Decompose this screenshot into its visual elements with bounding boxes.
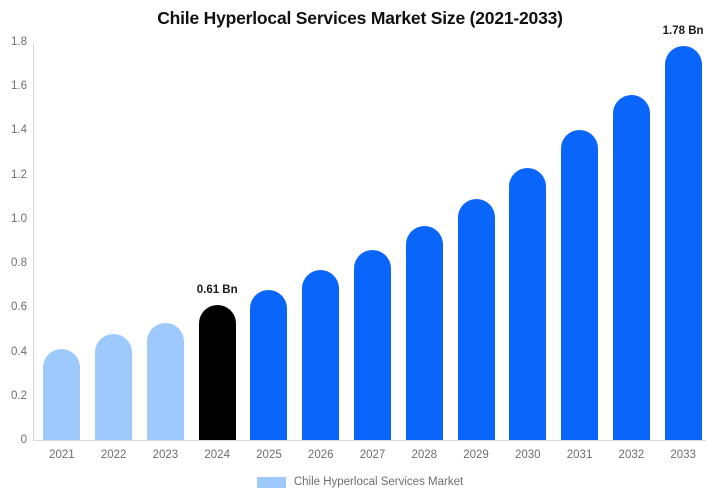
y-axis-tick-1.2: 1.2	[0, 169, 27, 181]
x-axis-tick-2026: 2026	[308, 449, 334, 461]
x-axis-line	[33, 440, 706, 441]
bar-2027[interactable]	[354, 250, 391, 440]
x-axis-tick-2022: 2022	[101, 449, 127, 461]
bar-2031[interactable]	[561, 130, 598, 440]
x-axis-tick-2033: 2033	[670, 449, 696, 461]
plot-area	[33, 42, 706, 440]
chart-container: Chile Hyperlocal Services Market Size (2…	[0, 0, 720, 500]
bar-2025[interactable]	[250, 290, 287, 440]
y-axis-tick-0.2: 0.2	[0, 390, 27, 402]
y-axis-tick-1.8: 1.8	[0, 36, 27, 48]
x-axis-tick-2021: 2021	[49, 449, 75, 461]
x-axis-tick-2027: 2027	[360, 449, 386, 461]
x-axis-tick-2023: 2023	[153, 449, 179, 461]
y-axis-tick-0.6: 0.6	[0, 301, 27, 313]
x-axis-tick-2031: 2031	[567, 449, 593, 461]
y-axis-tick-1.4: 1.4	[0, 124, 27, 136]
legend-label: Chile Hyperlocal Services Market	[294, 476, 463, 488]
bar-2024[interactable]	[199, 305, 236, 440]
x-axis-tick-2029: 2029	[463, 449, 489, 461]
y-axis-tick-0: 0	[0, 434, 27, 446]
bar-2021[interactable]	[43, 349, 80, 440]
chart-title: Chile Hyperlocal Services Market Size (2…	[0, 8, 720, 29]
x-axis-tick-2025: 2025	[256, 449, 282, 461]
y-axis-tick-1.6: 1.6	[0, 80, 27, 92]
bar-2033[interactable]	[665, 46, 702, 440]
bar-2030[interactable]	[509, 168, 546, 440]
value-label-2024: 0.61 Bn	[197, 284, 238, 296]
bar-2028[interactable]	[406, 226, 443, 440]
x-axis-tick-2030: 2030	[515, 449, 541, 461]
legend-swatch-icon	[257, 477, 286, 488]
bar-2032[interactable]	[613, 95, 650, 440]
bar-2023[interactable]	[147, 323, 184, 440]
bar-2026[interactable]	[302, 270, 339, 440]
y-axis-tick-1.0: 1.0	[0, 213, 27, 225]
y-axis-tick-0.4: 0.4	[0, 346, 27, 358]
bar-2029[interactable]	[458, 199, 495, 440]
x-axis-tick-2032: 2032	[619, 449, 645, 461]
x-axis-tick-2028: 2028	[411, 449, 437, 461]
x-axis-tick-2024: 2024	[204, 449, 230, 461]
value-label-2033: 1.78 Bn	[663, 25, 704, 37]
y-axis-tick-0.8: 0.8	[0, 257, 27, 269]
chart-legend: Chile Hyperlocal Services Market	[0, 476, 720, 488]
bar-2022[interactable]	[95, 334, 132, 440]
